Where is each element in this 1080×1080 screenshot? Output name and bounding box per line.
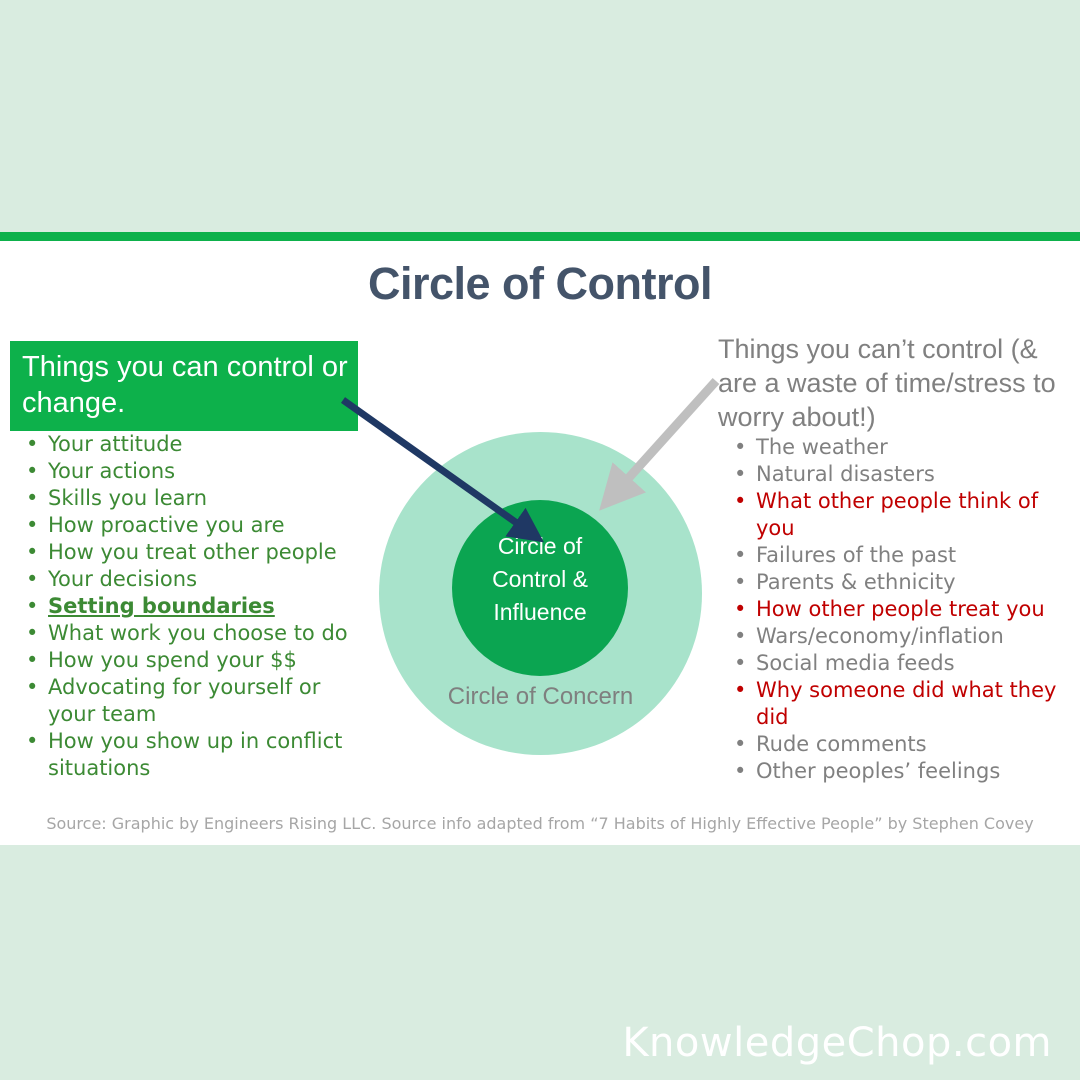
list-item: •Other peoples’ feelings (718, 758, 1073, 785)
list-item-label: What work you choose to do (48, 621, 348, 645)
site-watermark: KnowledgeChop.com (622, 1020, 1052, 1066)
bullet-dot-icon: • (26, 620, 38, 647)
list-item: •What work you choose to do (10, 620, 370, 647)
top-divider-rule (0, 232, 1080, 241)
bullet-dot-icon: • (26, 458, 38, 485)
bullet-dot-icon: • (734, 623, 746, 650)
controllable-heading: Things you can control or change. (10, 341, 358, 431)
controllable-list: •Your attitude•Your actions•Skills you l… (10, 431, 370, 782)
list-item-label: Your actions (48, 459, 175, 483)
list-item-label: How you spend your $$ (48, 648, 297, 672)
list-item: •How you treat other people (10, 539, 370, 566)
bullet-dot-icon: • (734, 650, 746, 677)
circle-of-concern-label: Circle of Concern (379, 683, 702, 711)
bullet-dot-icon: • (734, 434, 746, 461)
list-item-label: Setting boundaries (48, 594, 275, 618)
list-item: •Your decisions (10, 566, 370, 593)
list-item: •Advocating for yourself or your team (10, 674, 370, 728)
list-item: •Failures of the past (718, 542, 1073, 569)
bullet-dot-icon: • (734, 461, 746, 488)
list-item-label: Social media feeds (756, 651, 955, 675)
list-item-label: Rude comments (756, 732, 927, 756)
list-item-label: Skills you learn (48, 486, 207, 510)
bullet-dot-icon: • (26, 512, 38, 539)
circle-of-control-label-line3: Influence (452, 596, 628, 629)
slide-canvas: Circle of Control Things you can control… (0, 0, 1080, 1080)
list-item-label: How other people treat you (756, 597, 1045, 621)
bullet-dot-icon: • (26, 485, 38, 512)
uncontrollable-heading: Things you can’t control (& are a waste … (718, 332, 1073, 434)
list-item-label: Advocating for yourself or your team (48, 675, 320, 726)
list-item-label: The weather (756, 435, 888, 459)
bullet-dot-icon: • (734, 758, 746, 785)
uncontrollable-panel: Things you can’t control (& are a waste … (718, 332, 1073, 785)
list-item: •How you spend your $$ (10, 647, 370, 674)
bullet-dot-icon: • (734, 677, 746, 704)
bullet-dot-icon: • (734, 596, 746, 623)
bullet-dot-icon: • (26, 647, 38, 674)
list-item: •Rude comments (718, 731, 1073, 758)
circle-of-control-label-line2: Control & (452, 563, 628, 596)
list-item-label: Failures of the past (756, 543, 956, 567)
list-item-label: What other people think of you (756, 489, 1038, 540)
circle-of-control-label: Circle of Control & Influence (452, 530, 628, 629)
bullet-dot-icon: • (26, 593, 38, 620)
circle-of-control-label-line1: Circle of (452, 530, 628, 563)
bullet-dot-icon: • (26, 566, 38, 593)
bullet-dot-icon: • (734, 542, 746, 569)
list-item: •Social media feeds (718, 650, 1073, 677)
list-item: •Natural disasters (718, 461, 1073, 488)
bullet-dot-icon: • (734, 569, 746, 596)
list-item-label: How you treat other people (48, 540, 337, 564)
list-item: •How other people treat you (718, 596, 1073, 623)
list-item-label: Other peoples’ feelings (756, 759, 1000, 783)
controllable-panel: Things you can control or change. •Your … (10, 341, 370, 782)
list-item: •How you show up in conflict situations (10, 728, 370, 782)
list-item: •Setting boundaries (10, 593, 370, 620)
list-item-label: Parents & ethnicity (756, 570, 956, 594)
page-title: Circle of Control (0, 258, 1080, 310)
list-item-label: How proactive you are (48, 513, 285, 537)
list-item-label: Wars/economy/inflation (756, 624, 1004, 648)
list-item: •Wars/economy/inflation (718, 623, 1073, 650)
list-item: •Why someone did what they did (718, 677, 1073, 731)
list-item-label: Natural disasters (756, 462, 935, 486)
list-item: •How proactive you are (10, 512, 370, 539)
bullet-dot-icon: • (26, 539, 38, 566)
list-item: •What other people think of you (718, 488, 1073, 542)
bullet-dot-icon: • (734, 488, 746, 515)
list-item-label: Why someone did what they did (756, 678, 1056, 729)
list-item-label: Your attitude (48, 432, 182, 456)
bullet-dot-icon: • (734, 731, 746, 758)
bullet-dot-icon: • (26, 431, 38, 458)
bullet-dot-icon: • (26, 728, 38, 755)
list-item-label: Your decisions (48, 567, 197, 591)
list-item: •The weather (718, 434, 1073, 461)
source-attribution: Source: Graphic by Engineers Rising LLC.… (0, 814, 1080, 833)
list-item: •Your actions (10, 458, 370, 485)
bullet-dot-icon: • (26, 674, 38, 701)
list-item: •Your attitude (10, 431, 370, 458)
list-item-label: How you show up in conflict situations (48, 729, 342, 780)
list-item: •Skills you learn (10, 485, 370, 512)
uncontrollable-list: •The weather•Natural disasters•What othe… (718, 434, 1073, 785)
list-item: •Parents & ethnicity (718, 569, 1073, 596)
